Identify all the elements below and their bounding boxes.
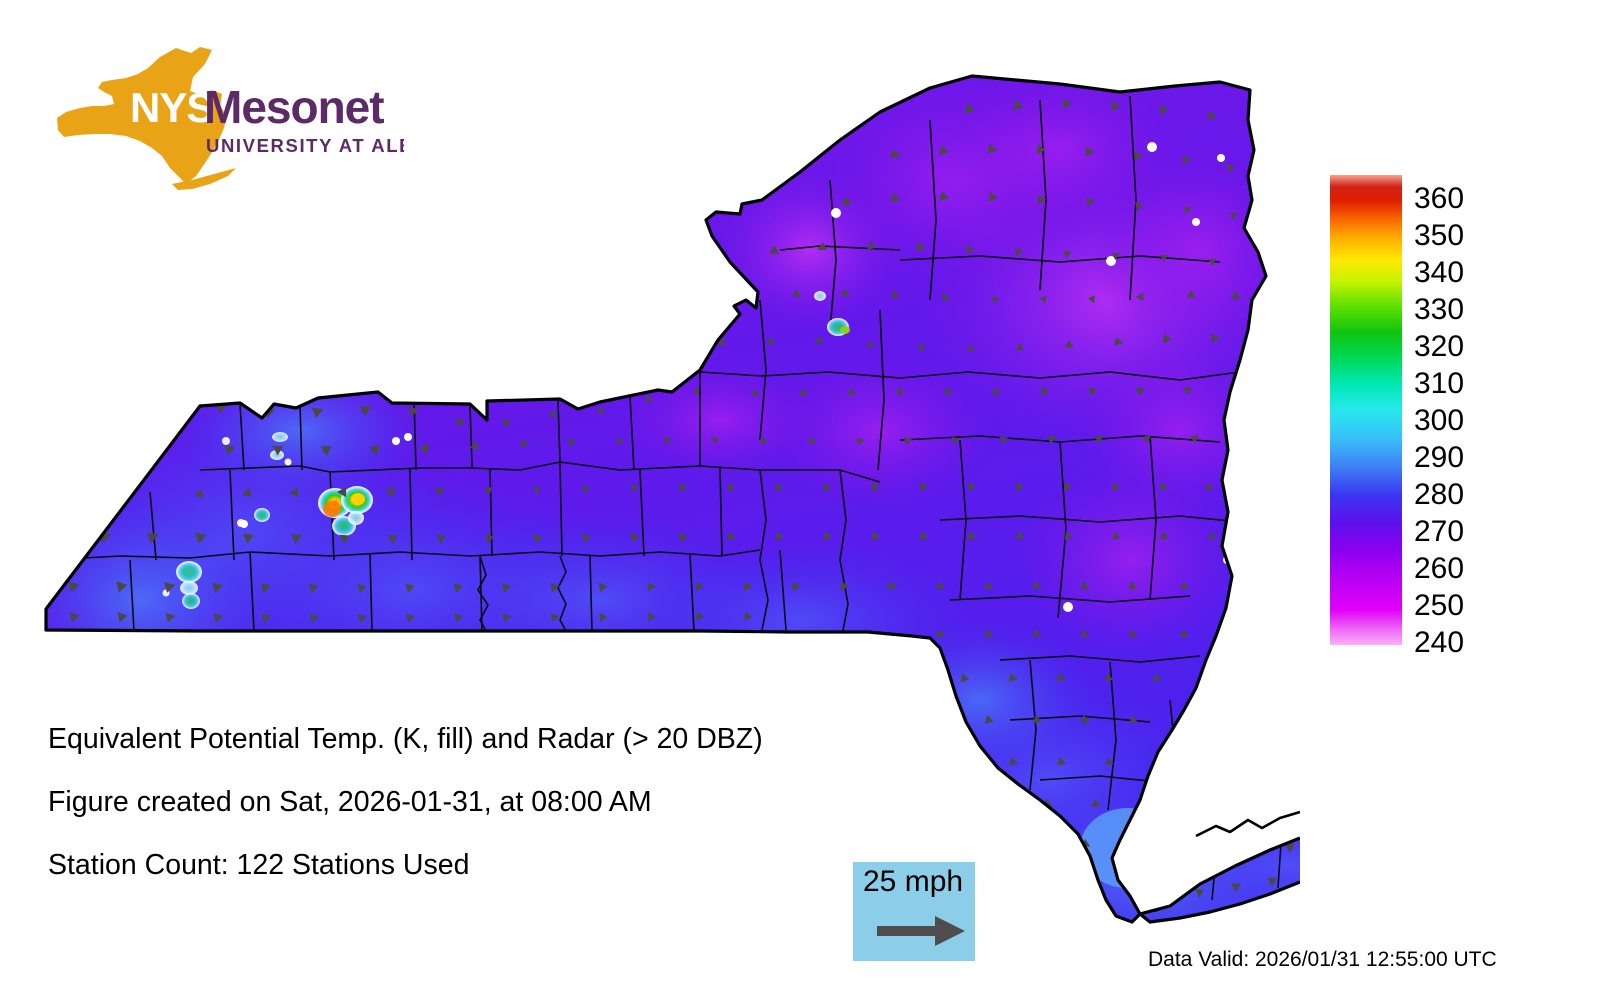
figure-canvas: NYS Mesonet UNIVERSITY AT ALBANY — [0, 0, 1600, 1000]
station-count-caption: Station Count: 122 Stations Used — [48, 849, 469, 882]
colorbar-tick: 270 — [1414, 517, 1464, 547]
data-valid-timestamp: Data Valid: 2026/01/31 12:55:00 UTC — [1148, 948, 1497, 972]
colorbar-tick: 360 — [1414, 184, 1464, 214]
wind-speed-legend: 25 mph — [853, 862, 975, 961]
colorbar-tick: 300 — [1414, 406, 1464, 436]
colorbar-tick: 340 — [1414, 258, 1464, 288]
colorbar-tick: 260 — [1414, 554, 1464, 584]
colorbar-tick: 280 — [1414, 480, 1464, 510]
wind-legend-label: 25 mph — [863, 865, 963, 899]
colorbar-tick: 250 — [1414, 591, 1464, 621]
colorbar-tick: 350 — [1414, 221, 1464, 251]
colorbar-tick: 320 — [1414, 332, 1464, 362]
colorbar — [1330, 175, 1402, 645]
figure-title-caption: Equivalent Potential Temp. (K, fill) and… — [48, 723, 763, 756]
colorbar-tick-labels: 360 350 340 330 320 310 300 290 280 270 … — [1414, 175, 1524, 667]
wind-arrow-icon — [875, 914, 967, 948]
figure-created-caption: Figure created on Sat, 2026-01-31, at 08… — [48, 786, 652, 819]
colorbar-tick: 290 — [1414, 443, 1464, 473]
colorbar-tick: 240 — [1414, 628, 1464, 658]
colorbar-tick: 310 — [1414, 369, 1464, 399]
colorbar-tick: 330 — [1414, 295, 1464, 325]
